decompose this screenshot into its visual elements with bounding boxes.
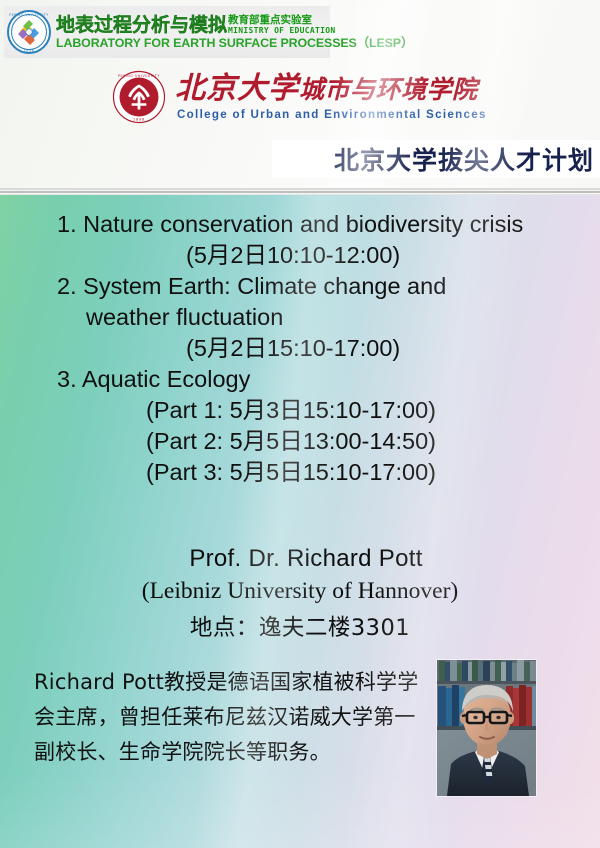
venue-label: 地点：逸夫二楼3301 (0, 613, 600, 643)
lecture-title-continuation: weather fluctuation (0, 302, 600, 333)
poster-canvas: PEKING UNIVERSITY 1898 地表过程分析与模拟 教育部重点实验… (0, 0, 600, 848)
lecture-number: 1. (57, 211, 77, 237)
program-title-text: 北京大学拔尖人才计划 (334, 141, 594, 177)
speaker-portrait-photo (437, 660, 536, 796)
lecture-number: 3. (57, 366, 77, 392)
svg-text:PEKING UNIVERSITY: PEKING UNIVERSITY (118, 74, 160, 78)
lecture-time: (5月2日15:10-17:00) (0, 333, 600, 364)
lesp-seal-icon: PEKING UNIVERSITY 1898 (6, 9, 52, 55)
lecture-title-line: 3. Aquatic Ecology (0, 364, 600, 395)
header-divider-line-2 (0, 191, 600, 193)
lecture-title: Nature conservation and biodiversity cri… (83, 211, 523, 237)
lesp-moe-chinese: 教育部重点实验室 (228, 15, 335, 26)
lecture-title: Aquatic Ecology (82, 366, 251, 392)
lecture-list: 1. Nature conservation and biodiversity … (0, 209, 600, 488)
lecture-item: 1. Nature conservation and biodiversity … (0, 209, 600, 271)
college-en-name: College of Urban and Environmental Scien… (177, 108, 487, 121)
lecture-number: 2. (57, 273, 77, 299)
speaker-block: Prof. Dr. Richard Pott (Leibniz Universi… (0, 543, 600, 643)
speaker-biography: Richard Pott教授是德语国家植被科学学会主席，曾担任莱布尼兹汉诺威大学… (34, 665, 434, 770)
lecture-title: System Earth: Climate change and (83, 273, 446, 299)
speaker-name: Prof. Dr. Richard Pott (0, 543, 600, 574)
header-zone: PEKING UNIVERSITY 1898 地表过程分析与模拟 教育部重点实验… (0, 0, 600, 190)
college-cn-university: 北京大学 (175, 71, 299, 106)
svg-text:1898: 1898 (23, 49, 34, 53)
svg-text:1898: 1898 (133, 118, 145, 122)
program-title-banner: 北京大学拔尖人才计划 (272, 140, 600, 178)
lesp-chinese-title: 地表过程分析与模拟 (56, 16, 227, 35)
lecture-time: (Part 2: 5月5日13:00-14:50) (0, 426, 600, 457)
lecture-title-line: 2. System Earth: Climate change and (0, 271, 600, 302)
lesp-moe-english: MINISTRY OF EDUCATION (228, 27, 335, 35)
lecture-item: 3. Aquatic Ecology (Part 1: 5月3日15:10-17… (0, 364, 600, 488)
lecture-time: (5月2日10:10-12:00) (0, 240, 600, 271)
speaker-affiliation: (Leibniz University of Hannover) (0, 576, 600, 608)
svg-text:PEKING UNIVERSITY: PEKING UNIVERSITY (9, 13, 48, 17)
college-cn-school: 城市与环境学院 (299, 75, 478, 104)
college-header-block: PEKING UNIVERSITY 1898 北京大学城市与环境学院 Colle… (112, 70, 487, 124)
lecture-time: (Part 1: 5月3日15:10-17:00) (0, 395, 600, 426)
peking-university-seal-icon: PEKING UNIVERSITY 1898 (112, 70, 166, 124)
lecture-time: (Part 3: 5月5日15:10-17:00) (0, 457, 600, 488)
lecture-title-line: 1. Nature conservation and biodiversity … (0, 209, 600, 240)
lesp-lab-logo-strip: PEKING UNIVERSITY 1898 地表过程分析与模拟 教育部重点实验… (4, 6, 330, 58)
lesp-english-title: LABORATORY FOR EARTH SURFACE PROCESSES（L… (56, 37, 413, 49)
lecture-item: 2. System Earth: Climate change and weat… (0, 271, 600, 364)
